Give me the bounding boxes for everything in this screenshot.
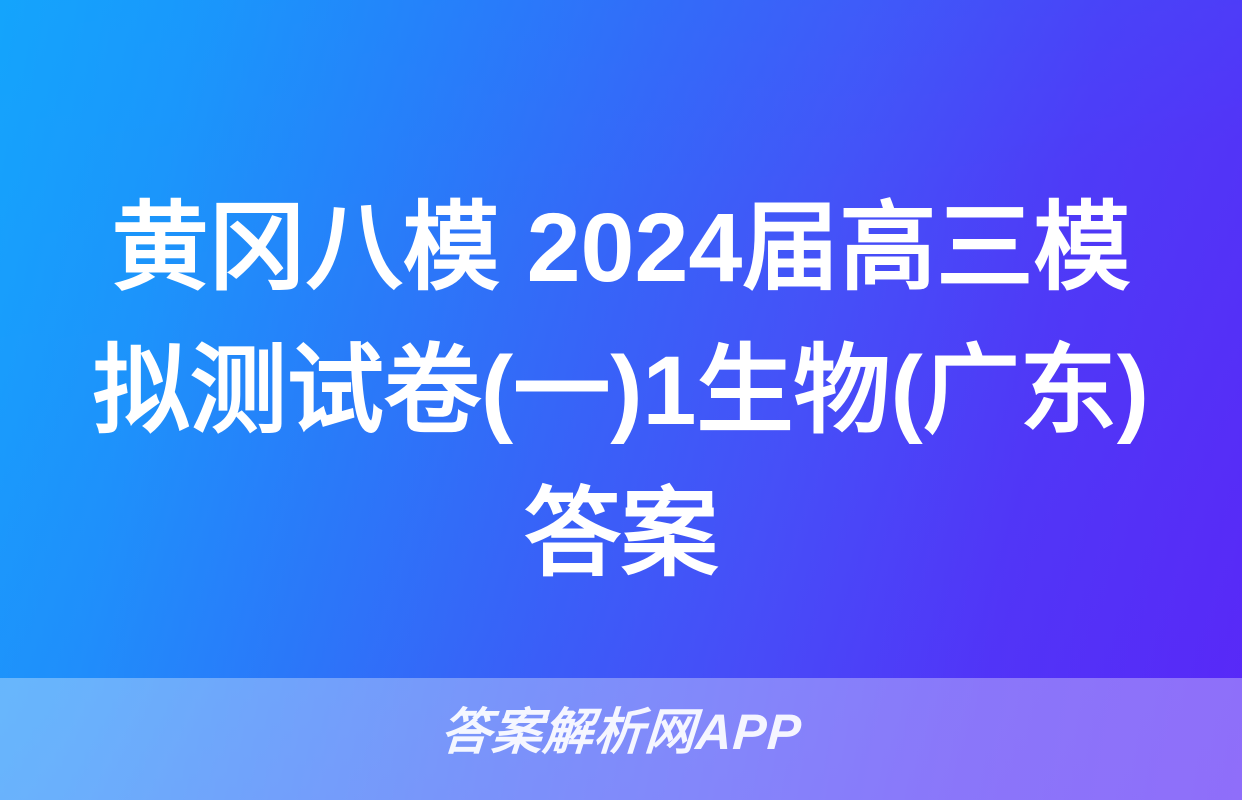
watermark: 答案解析网APP	[0, 704, 1242, 760]
promo-card: 黄冈八模 2024届高三模拟测试卷(一)1生物(广东)答案 答案解析网APP	[0, 0, 1242, 800]
page-title: 黄冈八模 2024届高三模拟测试卷(一)1生物(广东)答案	[0, 176, 1242, 605]
watermark-text: 答案解析网APP	[439, 704, 804, 760]
page-title-text: 黄冈八模 2024届高三模拟测试卷(一)1生物(广东)答案	[66, 176, 1176, 605]
